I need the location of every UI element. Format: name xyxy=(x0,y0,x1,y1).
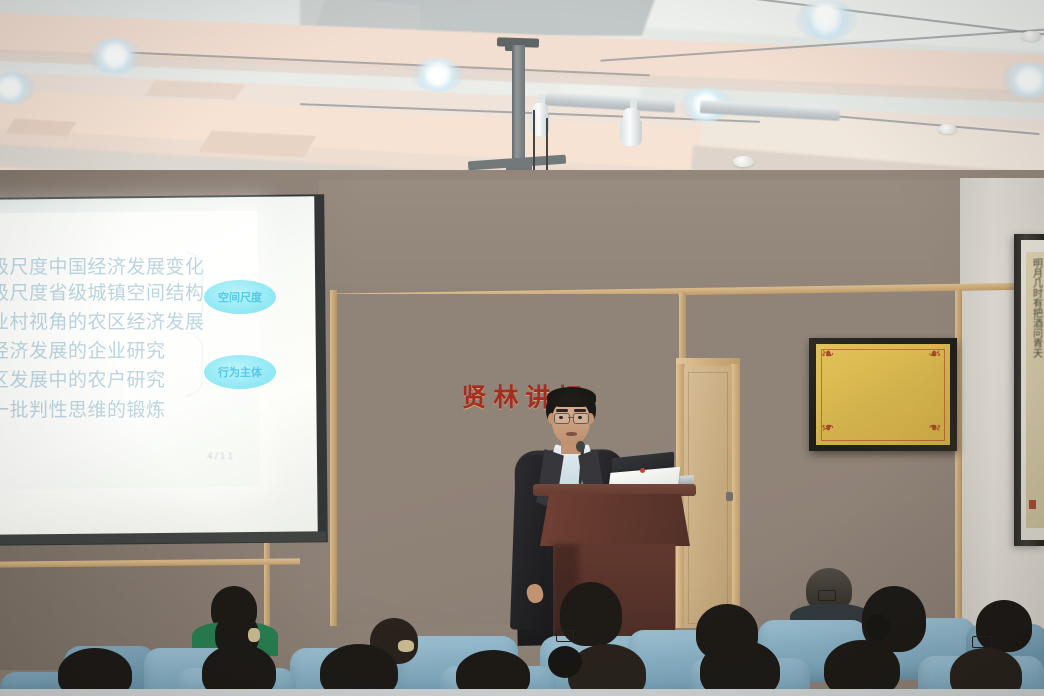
ceiling-light-6-core xyxy=(0,83,14,92)
ceiling-light-4-core xyxy=(816,6,834,18)
red-marker-dot xyxy=(640,468,645,473)
image-bottom-edge xyxy=(0,689,1044,696)
audience-hairclip-1 xyxy=(248,628,260,642)
ceiling-light-5-core xyxy=(1021,74,1037,84)
projector-pole xyxy=(512,45,525,165)
slide-callout-1: 空间尺度 xyxy=(204,280,276,314)
smoke-detector-3 xyxy=(938,124,957,134)
wall-upper-band xyxy=(318,180,1044,285)
speaker-hair-top xyxy=(547,387,596,407)
slide-brace-1 xyxy=(186,252,203,326)
wall-trim-vertical-4 xyxy=(264,540,270,632)
scroll-calligraphy: 明月几时有把酒问青天 xyxy=(1030,258,1041,508)
ceiling-inset-1 xyxy=(6,119,77,137)
speaker-eye-left xyxy=(559,416,563,419)
ceiling-light-1-core xyxy=(107,50,122,60)
audience-hair-bun-1 xyxy=(866,614,890,640)
audience-head-front-6 xyxy=(700,640,780,696)
scroll-seal xyxy=(1029,500,1036,509)
slide-line-2: 级尺度省级城镇空间结构 xyxy=(0,278,205,305)
projector-cable-2 xyxy=(546,118,570,176)
slide-page-number: 4/11 xyxy=(207,452,235,462)
smoke-detector-1 xyxy=(1021,31,1041,41)
slide-line-3: 业村视角的农区经济发展 xyxy=(0,307,205,334)
speaker-glasses-bridge xyxy=(568,417,573,418)
audience-glasses-mid-6 xyxy=(972,636,992,648)
plaque-ornament-br: ❧ xyxy=(928,418,941,434)
podium-front-upper xyxy=(540,494,690,546)
slide-line-1: 级尺度中国经济发展变化 xyxy=(0,252,205,279)
door-handle[interactable] xyxy=(726,492,733,501)
ceiling-light-2-core xyxy=(430,69,444,79)
audience-head-front-7 xyxy=(824,640,900,696)
plaque-ornament-tr: ❧ xyxy=(928,347,941,363)
audience-hair-bun-2 xyxy=(548,646,582,678)
speaker-brow-left xyxy=(556,409,568,412)
plaque-ornament-bl: ❧ xyxy=(821,418,834,434)
audience-glasses-mid-3 xyxy=(556,630,574,642)
microphone-head xyxy=(576,441,585,452)
photo-scene: 级尺度中国经济发展变化 级尺度省级城镇空间结构 业村视角的农区经济发展 经济发展… xyxy=(0,0,1044,696)
speaker-eye-right xyxy=(578,416,582,419)
slide-callout-1-label: 空间尺度 xyxy=(218,289,262,305)
audience-hairclip-2 xyxy=(398,640,414,652)
speaker-brow-right xyxy=(574,409,586,412)
audience-glasses-back-2 xyxy=(818,590,836,601)
smoke-detector-2 xyxy=(733,156,754,167)
plaque-ornament-tl: ❧ xyxy=(821,347,834,363)
plaque-title: 贤林讲坛 xyxy=(0,378,1044,414)
speaker-mouth xyxy=(566,432,577,436)
slide-line-4: 经济发展的企业研究 xyxy=(0,336,166,363)
wall-trim-vertical-1 xyxy=(330,290,337,626)
